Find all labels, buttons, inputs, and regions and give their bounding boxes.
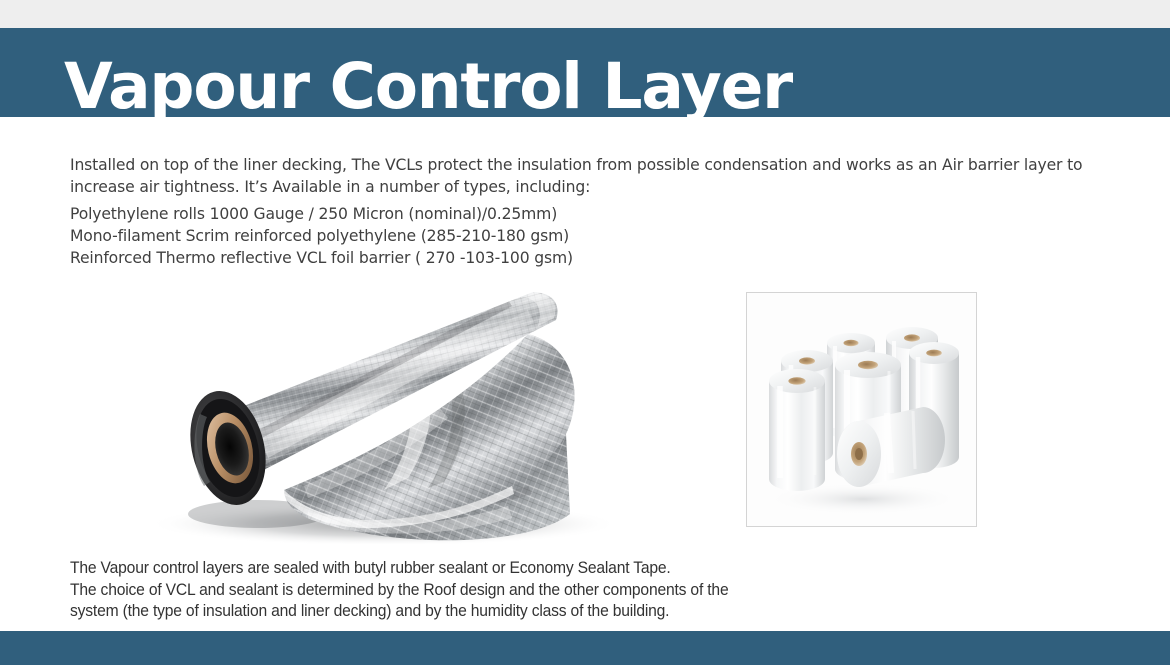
closing-paragraph: The Vapour control layers are sealed wit… xyxy=(70,558,1073,623)
list-item: Mono-filament Scrim reinforced polyethyl… xyxy=(70,226,573,248)
reinforced-thermo-reflective-foil-vcl-roll-image xyxy=(108,282,644,544)
clear-polyethylene-film-rolls-image xyxy=(746,292,977,527)
vcl-type-list: Polyethylene rolls 1000 Gauge / 250 Micr… xyxy=(70,204,573,269)
bottom-banner xyxy=(0,631,1170,665)
closing-paragraph-line: The Vapour control layers are sealed wit… xyxy=(70,558,1073,580)
closing-paragraph-line: system (the type of insulation and liner… xyxy=(70,601,1073,623)
title-banner: Vapour Control Layer xyxy=(0,28,1170,117)
page-title: Vapour Control Layer xyxy=(64,55,792,118)
list-item: Reinforced Thermo reflective VCL foil ba… xyxy=(70,248,573,270)
intro-paragraph: Installed on top of the liner decking, T… xyxy=(70,154,1148,199)
closing-paragraph-line: The choice of VCL and sealant is determi… xyxy=(70,580,1073,602)
top-gray-strip xyxy=(0,0,1170,28)
list-item: Polyethylene rolls 1000 Gauge / 250 Micr… xyxy=(70,204,573,226)
slide-canvas: Vapour Control Layer Installed on top of… xyxy=(0,0,1170,665)
